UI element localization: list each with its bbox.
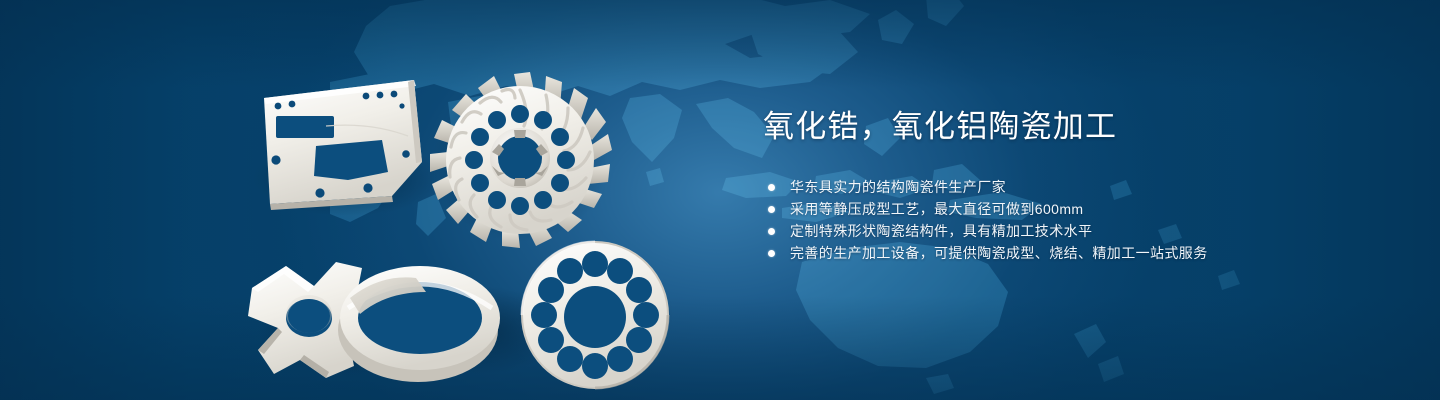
ceramic-perforated-ring [522, 242, 668, 388]
ceramic-thin-rings [338, 266, 500, 382]
feature-text: 完善的生产加工设备，可提供陶瓷成型、烧结、精加工一站式服务 [790, 242, 1208, 264]
ceramic-impeller-rotor [430, 72, 612, 248]
bullet-dot-icon [768, 184, 775, 191]
list-item: 定制特殊形状陶瓷结构件，具有精加工技术水平 [763, 220, 1383, 242]
bullet-dot-icon [768, 250, 775, 257]
list-item: 华东具实力的结构陶瓷件生产厂家 [763, 176, 1383, 198]
promo-banner: 氧化锆，氧化铝陶瓷加工 华东具实力的结构陶瓷件生产厂家 采用等静压成型工艺，最大… [0, 0, 1440, 400]
feature-list: 华东具实力的结构陶瓷件生产厂家 采用等静压成型工艺，最大直径可做到600mm 定… [763, 176, 1383, 264]
banner-copy: 氧化锆，氧化铝陶瓷加工 华东具实力的结构陶瓷件生产厂家 采用等静压成型工艺，最大… [763, 106, 1383, 264]
bullet-dot-icon [768, 206, 775, 213]
feature-text: 采用等静压成型工艺，最大直径可做到600mm [790, 198, 1083, 220]
ceramic-products-image [230, 30, 700, 380]
banner-headline: 氧化锆，氧化铝陶瓷加工 [763, 106, 1383, 148]
list-item: 完善的生产加工设备，可提供陶瓷成型、烧结、精加工一站式服务 [763, 242, 1383, 264]
feature-text: 定制特殊形状陶瓷结构件，具有精加工技术水平 [790, 220, 1092, 242]
feature-text: 华东具实力的结构陶瓷件生产厂家 [790, 176, 1006, 198]
list-item: 采用等静压成型工艺，最大直径可做到600mm [763, 198, 1383, 220]
bullet-dot-icon [768, 228, 775, 235]
